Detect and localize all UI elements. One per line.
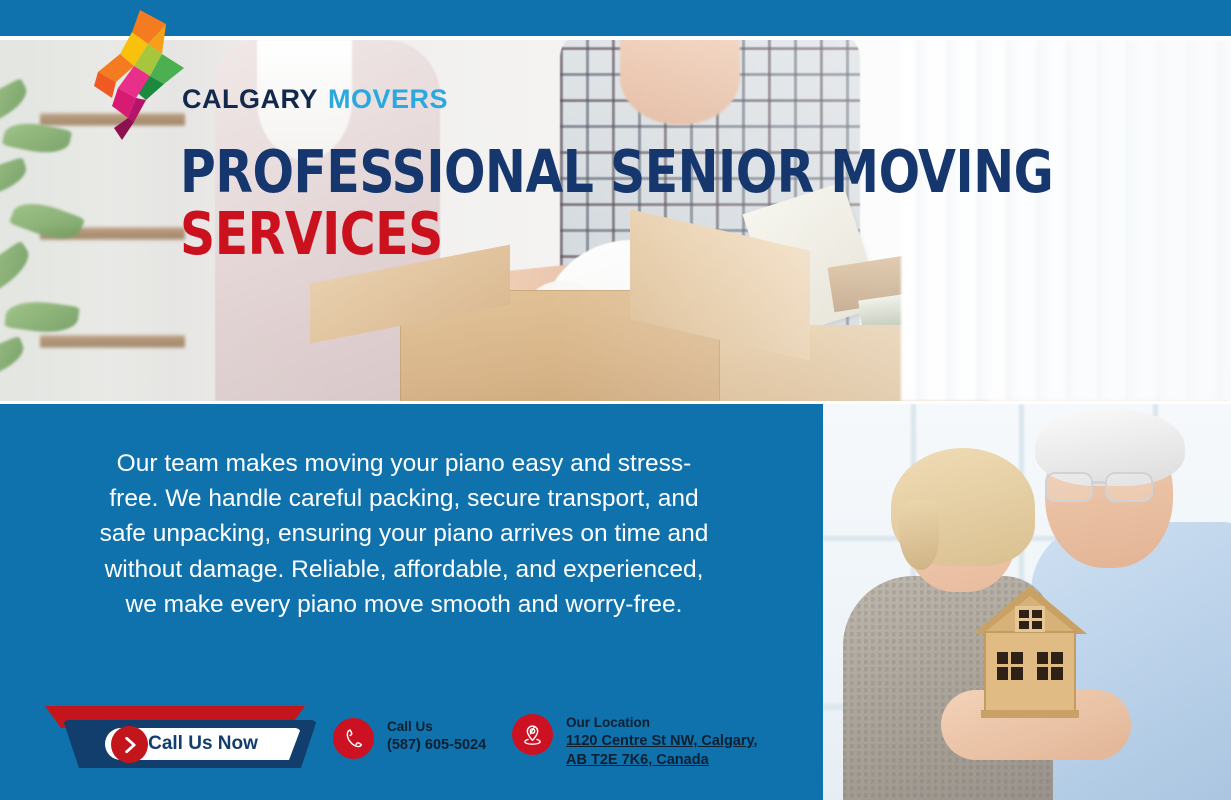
flyer-canvas: CALGARYMOVERS PROFESSIONAL SENIOR MOVING… [0,0,1231,800]
calgary-movers-logo-icon [88,10,192,140]
contact-address-line-1[interactable]: 1120 Centre St NW, Calgary, [566,732,758,751]
contact-our-location[interactable]: Our Location 1120 Centre St NW, Calgary,… [512,714,758,770]
headline-line-1: PROFESSIONAL SENIOR MOVING [180,141,1053,203]
chevron-right-icon [111,726,148,763]
headline-line-2: SERVICES [180,203,1053,265]
call-us-now-button[interactable]: Call Us Now [45,706,317,768]
brand-wordmark: CALGARYMOVERS [182,84,448,115]
contact-call-us[interactable]: Call Us (587) 605-5024 [333,718,486,759]
contact-address-line-2[interactable]: AB T2E 7K6, Canada [566,751,758,770]
model-house-icon [971,586,1089,722]
brand-name-primary: CALGARY [182,84,318,114]
contact-phone-number[interactable]: (587) 605-5024 [387,736,486,755]
contact-location-label: Our Location [566,714,758,732]
brand-name-secondary: MOVERS [328,84,448,114]
phone-icon [333,718,374,759]
glasses-detail [1045,472,1169,502]
contact-call-us-label: Call Us [387,718,486,736]
body-paragraph: Our team makes moving your piano easy an… [98,446,710,622]
hero-headline: PROFESSIONAL SENIOR MOVING SERVICES [180,141,1129,265]
map-pin-icon [512,714,553,755]
senior-couple-photo [823,404,1231,800]
